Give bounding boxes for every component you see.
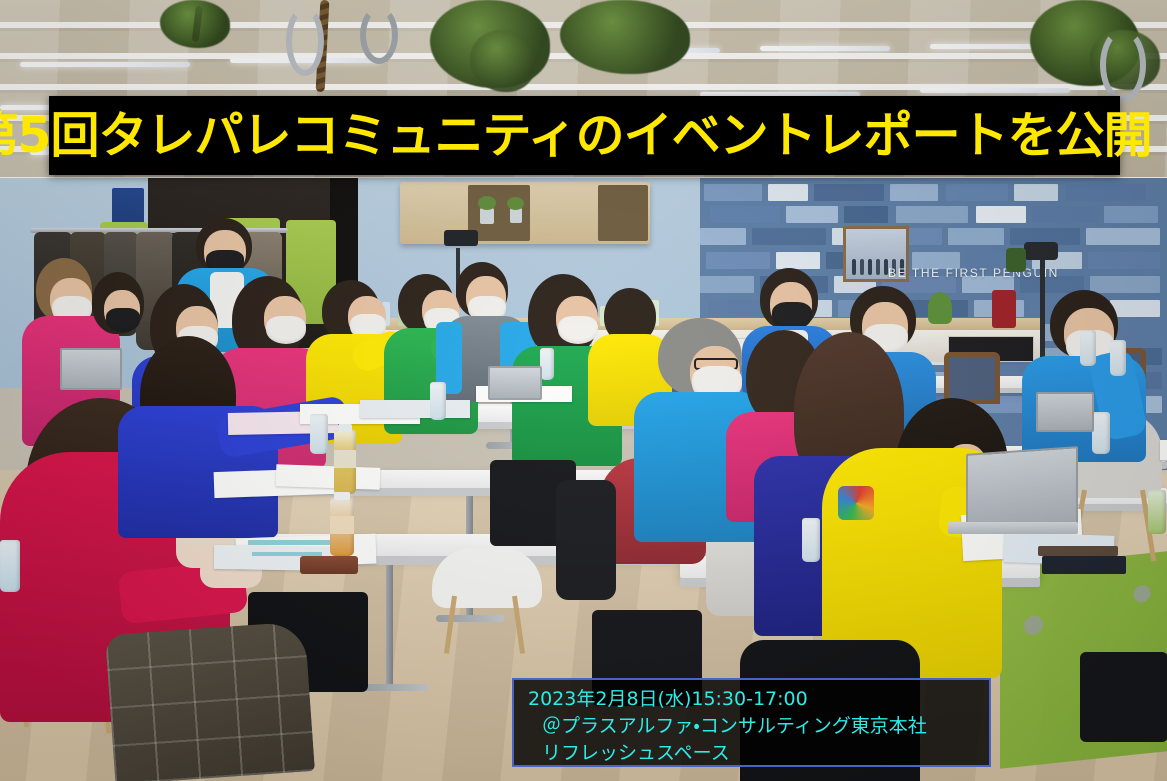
water-bottle [1092,412,1110,454]
coffee-machine [992,290,1016,328]
laptop-screen [966,446,1078,532]
shelf-plant [1006,248,1026,272]
bag [1080,652,1167,742]
document [360,400,470,418]
caption-line-venue: ＠プラスアルファ・コンサルティング東京本社 [528,713,989,740]
ceiling-hook [1100,28,1146,102]
highlight-mark [248,540,332,545]
book [1038,546,1118,556]
water-bottle [802,518,820,562]
wooden-chair [944,352,1000,404]
plant-foliage [507,197,524,210]
ceiling-hook [360,6,398,64]
title-banner: 第5回タレパレコミュニティのイベントレポートを公開！ [49,96,1120,175]
water-bottle [0,540,20,592]
laptop-screen [60,348,122,390]
laptop-screen [1036,392,1094,432]
tea-bottle [1148,490,1166,534]
lamp-shade [1024,242,1058,260]
caption-line-datetime: 2023年2月8日(水)15:30-17:00 [528,686,989,713]
caption-line-space: リフレッシュスペース [528,740,989,767]
ceiling-light [920,88,1070,93]
counter-plant [928,292,952,324]
event-details-caption: 2023年2月8日(水)15:30-17:00 ＠プラスアルファ・コンサルティン… [512,678,991,767]
screenshot-root: BE THE FIRST PENGUIN [0,0,1167,781]
title-text: 第5回タレパレコミュニティのイベントレポートを公開！ [0,111,1167,160]
laptop-screen [488,366,542,400]
laptop-base [948,522,1078,534]
water-bottle [1080,330,1096,366]
ceiling-light [760,46,890,51]
chair [432,548,542,608]
ceiling-light [20,62,190,67]
wallet [300,556,358,574]
hoodie-logo [838,486,874,520]
book [1042,556,1126,574]
floor-lamp-pole [1040,248,1045,368]
water-bottle [310,414,328,454]
water-bottle [1110,340,1126,376]
wall-slogan-text: BE THE FIRST PENGUIN [888,266,1059,280]
plaid-skirt [105,621,315,781]
seated-legs [556,480,616,600]
video-camera [444,230,478,246]
plant-foliage [478,196,496,210]
bottle-label [334,450,356,468]
hanging-plant [470,30,536,92]
document [1160,440,1167,460]
potted-plant [480,208,494,224]
water-bottle [430,382,446,420]
cabinet-open-shelf [598,185,648,241]
water-bottle [540,348,554,380]
potted-plant [510,208,522,223]
bottle-label [330,516,354,534]
ceiling-hook [286,6,324,76]
document [276,464,381,490]
